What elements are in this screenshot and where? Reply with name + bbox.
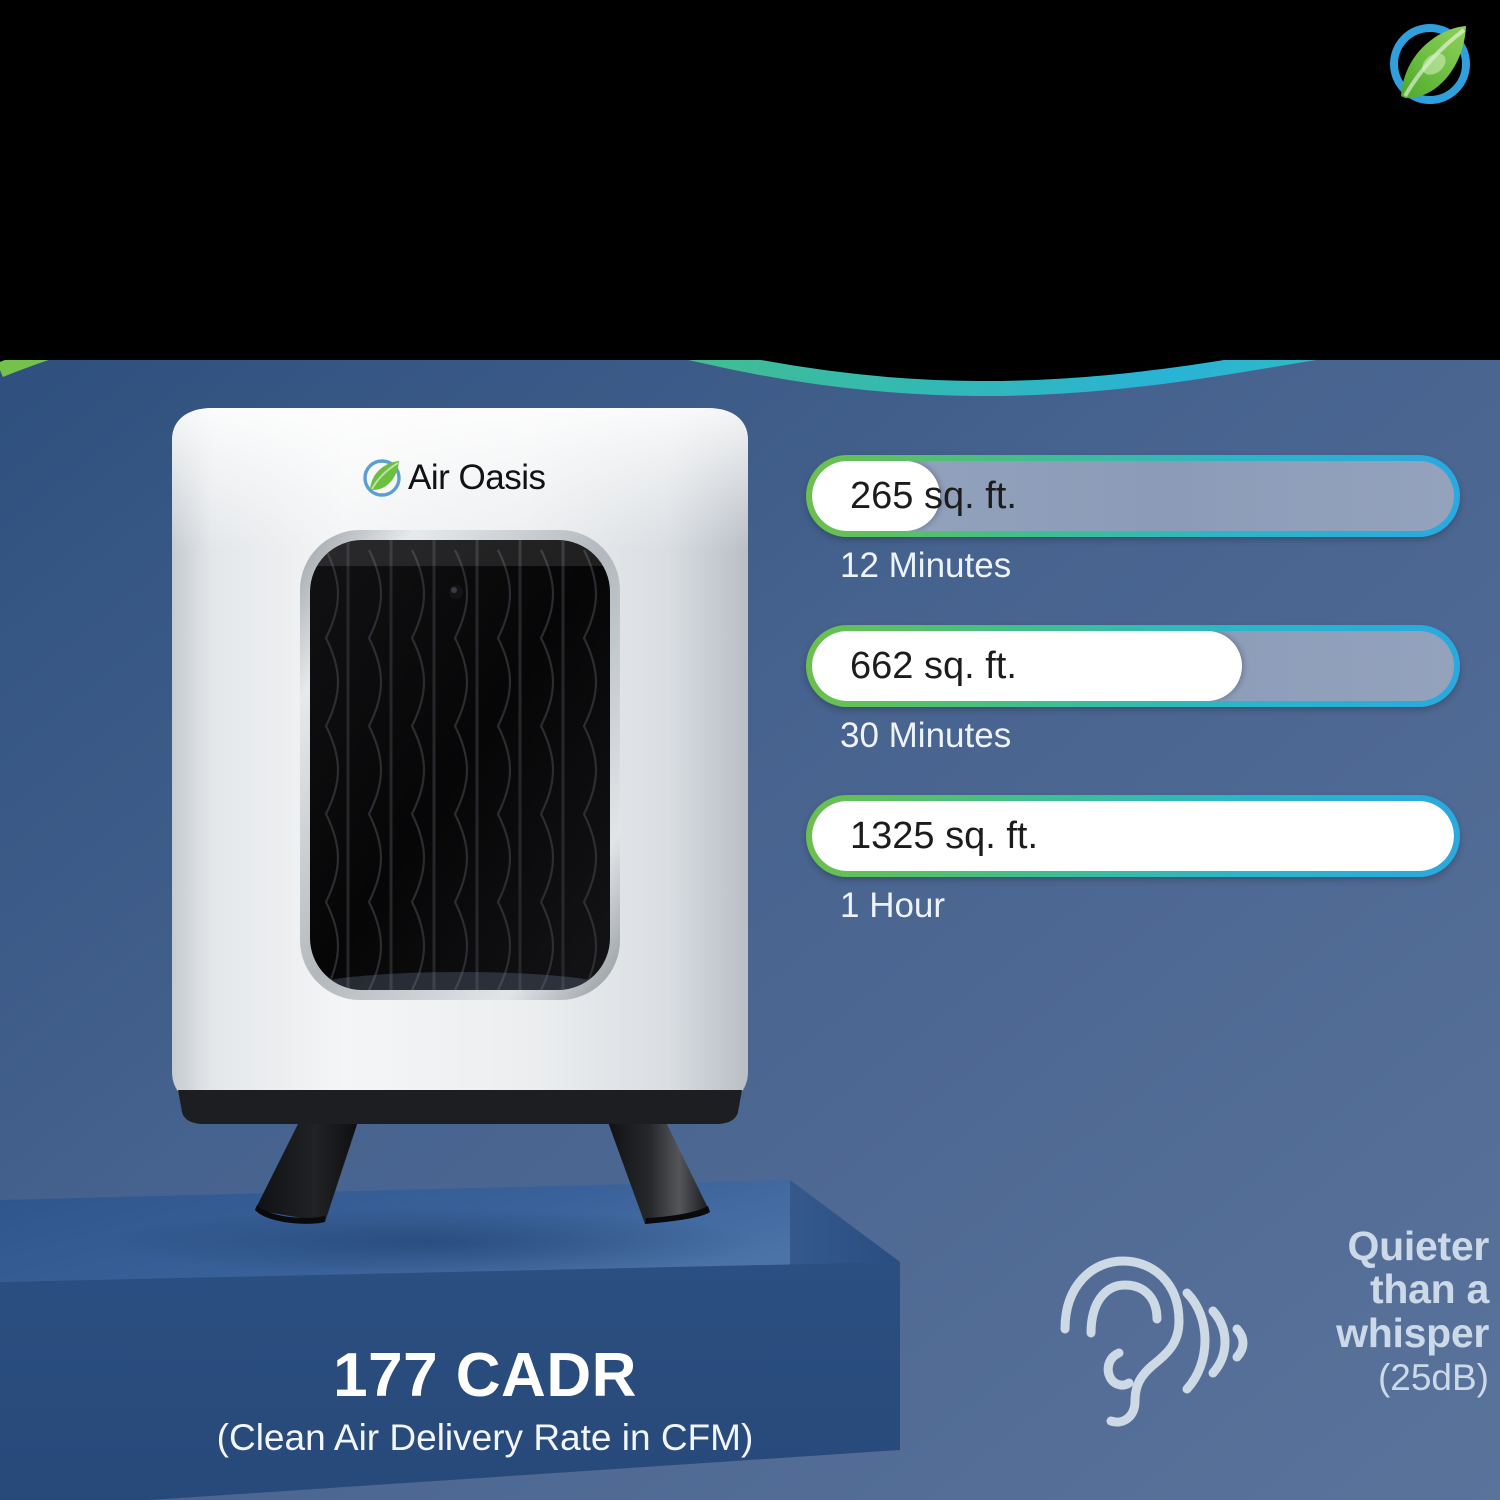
noise-line-1: Quieter: [1257, 1225, 1489, 1268]
coverage-bar-fill: 1325 sq. ft.: [812, 801, 1454, 871]
svg-text:Air Oasis: Air Oasis: [408, 458, 545, 497]
noise-level-block: Quieter than a whisper (25dB): [1035, 1225, 1485, 1475]
noise-line-3: whisper: [1257, 1312, 1489, 1355]
product-brand-logo: Air Oasis: [365, 458, 545, 497]
coverage-bar-track: 1325 sq. ft.: [806, 795, 1460, 877]
coverage-bar-caption: 30 Minutes: [806, 716, 1466, 756]
coverage-bar-inner: 662 sq. ft.: [812, 631, 1454, 701]
coverage-bars: 265 sq. ft. 12 Minutes 662 sq. ft. 30 Mi…: [806, 455, 1466, 965]
header-band: [0, 0, 1500, 360]
coverage-bar-fill: 265 sq. ft.: [812, 461, 940, 531]
coverage-bar-inner: 1325 sq. ft.: [812, 801, 1454, 871]
coverage-bar-value: 662 sq. ft.: [812, 645, 1017, 688]
noise-line-2: than a: [1257, 1268, 1489, 1311]
air-purifier-product: Air Oasis: [150, 400, 770, 1300]
product-grille: [300, 530, 620, 1004]
ear-sound-waves-icon: [1035, 1233, 1250, 1448]
leaf-circle-logo-icon: [1378, 12, 1482, 116]
coverage-bar-caption: 1 Hour: [806, 886, 1466, 926]
coverage-bar-inner: 265 sq. ft.: [812, 461, 1454, 531]
coverage-bar-value: 1325 sq. ft.: [812, 815, 1038, 858]
coverage-bar-value: 265 sq. ft.: [812, 475, 1017, 518]
coverage-bar-track: 265 sq. ft.: [806, 455, 1460, 537]
cadr-block: 177 CADR (Clean Air Delivery Rate in CFM…: [70, 1340, 900, 1459]
coverage-bar-caption: 12 Minutes: [806, 546, 1466, 586]
noise-level-text: Quieter than a whisper (25dB): [1257, 1225, 1489, 1399]
infographic-canvas: Air Oasis: [0, 0, 1500, 1500]
coverage-bar-fill: 662 sq. ft.: [812, 631, 1242, 701]
coverage-bar-group: 265 sq. ft. 12 Minutes: [806, 455, 1466, 586]
coverage-bar-group: 662 sq. ft. 30 Minutes: [806, 625, 1466, 756]
coverage-bar-group: 1325 sq. ft. 1 Hour: [806, 795, 1466, 926]
cadr-note: (Clean Air Delivery Rate in CFM): [70, 1417, 900, 1459]
noise-decibels: (25dB): [1257, 1357, 1489, 1398]
coverage-bar-track: 662 sq. ft.: [806, 625, 1460, 707]
cadr-value: 177 CADR: [70, 1340, 900, 1411]
